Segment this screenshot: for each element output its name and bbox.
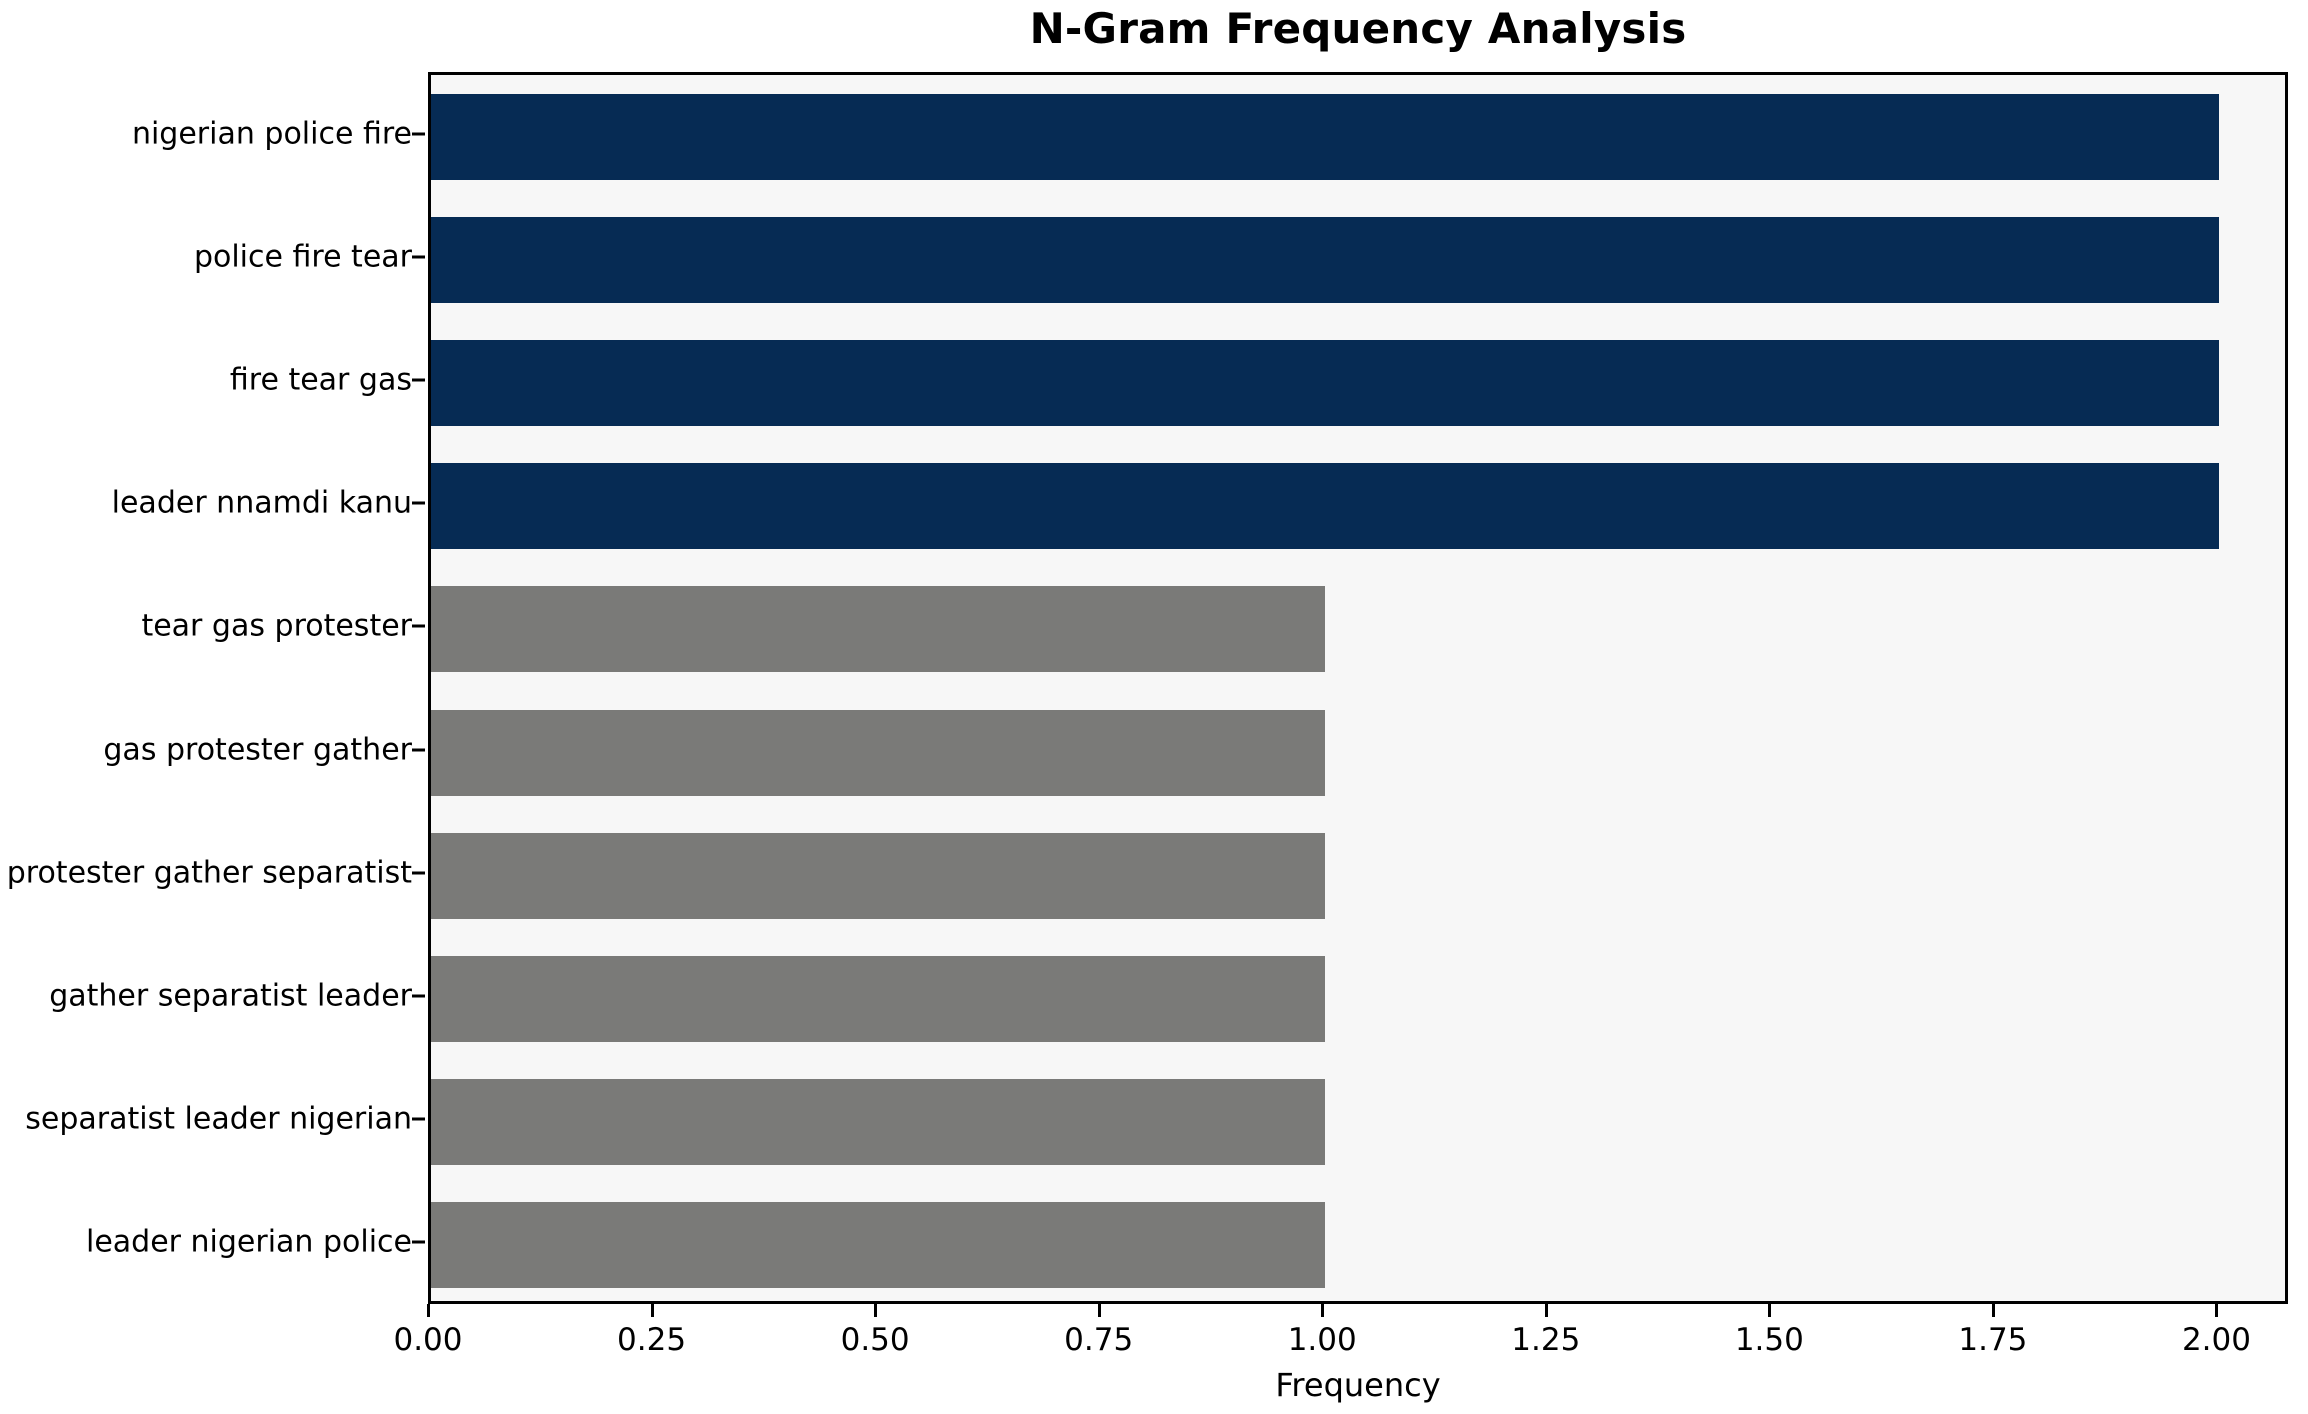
x-tick-label: 1.75 [1958, 1322, 2027, 1358]
x-tick-mark [1768, 1304, 1771, 1317]
y-tick-label: gather separatist leader [0, 979, 412, 1014]
bar [431, 833, 1325, 919]
y-tick-mark [412, 995, 425, 998]
figure: N-Gram Frequency Analysis nigerian polic… [0, 0, 2308, 1414]
x-tick-mark [874, 1304, 877, 1317]
y-tick-mark [412, 871, 425, 874]
x-axis-label: Frequency [428, 1366, 2288, 1404]
y-tick-mark [412, 132, 425, 135]
y-tick-label: protester gather separatist [0, 855, 412, 890]
y-tick-mark [412, 379, 425, 382]
x-tick-mark [1321, 1304, 1324, 1317]
x-tick-mark [1545, 1304, 1548, 1317]
y-tick-mark [412, 255, 425, 258]
x-tick-label: 1.25 [1511, 1322, 1580, 1358]
bar [431, 956, 1325, 1042]
bar [431, 710, 1325, 796]
bar [431, 340, 2219, 426]
y-tick-label: gas protester gather [0, 732, 412, 767]
bars-container [431, 75, 2285, 1301]
x-tick-label: 2.00 [2182, 1322, 2251, 1358]
y-tick-label: leader nigerian police [0, 1225, 412, 1260]
y-tick-label: fire tear gas [0, 363, 412, 398]
x-tick-mark [1992, 1304, 1995, 1317]
bar [431, 94, 2219, 180]
x-tick-mark [651, 1304, 654, 1317]
y-tick-label: tear gas protester [0, 609, 412, 644]
y-tick-mark [412, 625, 425, 628]
bar [431, 217, 2219, 303]
y-tick-label: separatist leader nigerian [0, 1102, 412, 1137]
x-tick-label: 0.00 [393, 1322, 462, 1358]
x-tick-label: 0.50 [841, 1322, 910, 1358]
y-tick-mark [412, 748, 425, 751]
x-tick-mark [2215, 1304, 2218, 1317]
y-tick-mark [412, 1118, 425, 1121]
bar [431, 586, 1325, 672]
bar [431, 463, 2219, 549]
x-tick-label: 1.00 [1288, 1322, 1357, 1358]
x-tick-label: 1.50 [1735, 1322, 1804, 1358]
plot-area [428, 72, 2288, 1304]
y-tick-label: police fire tear [0, 239, 412, 274]
y-tick-mark [412, 1241, 425, 1244]
y-tick-mark [412, 502, 425, 505]
x-tick-mark [1098, 1304, 1101, 1317]
page-title: N-Gram Frequency Analysis [428, 4, 2288, 53]
x-tick-label: 0.75 [1064, 1322, 1133, 1358]
bar [431, 1079, 1325, 1165]
y-tick-label: nigerian police fire [0, 116, 412, 151]
x-tick-label: 0.25 [617, 1322, 686, 1358]
x-tick-mark [427, 1304, 430, 1317]
bar [431, 1202, 1325, 1288]
y-tick-label: leader nnamdi kanu [0, 486, 412, 521]
